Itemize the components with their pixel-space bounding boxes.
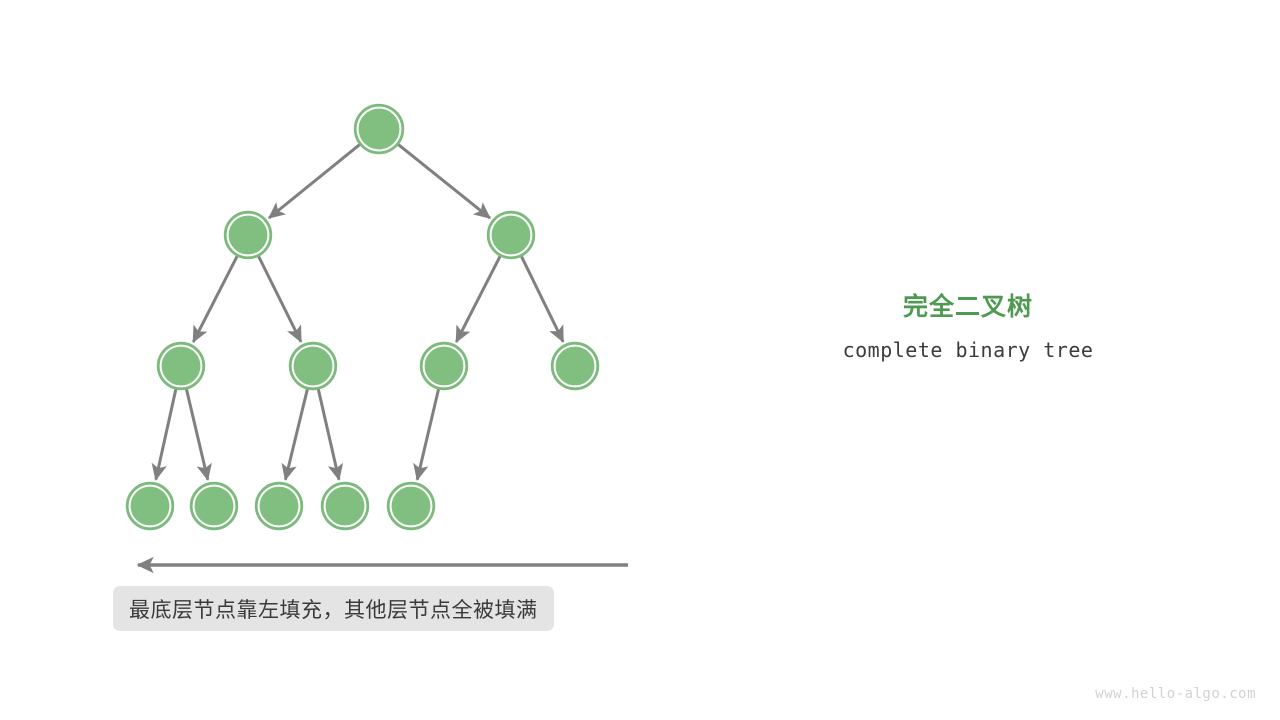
node-core: [425, 347, 463, 385]
legend-block: 完全二叉树 complete binary tree: [768, 292, 1168, 362]
tree-node[interactable]: [127, 483, 173, 529]
node-core: [294, 347, 332, 385]
legend-subtitle: complete binary tree: [768, 338, 1168, 362]
tree-node[interactable]: [158, 343, 204, 389]
tree-node[interactable]: [552, 343, 598, 389]
tree-edge: [187, 389, 208, 479]
tree-node[interactable]: [488, 212, 534, 258]
node-core: [492, 216, 530, 254]
tree-node[interactable]: [421, 343, 467, 389]
node-core: [131, 487, 169, 525]
node-core: [195, 487, 233, 525]
tree-node[interactable]: [256, 483, 302, 529]
tree-edge: [417, 389, 438, 479]
tree-edge: [318, 389, 339, 479]
tree-node[interactable]: [322, 483, 368, 529]
watermark: www.hello-algo.com: [1095, 686, 1256, 702]
tree-nodes: [127, 105, 598, 529]
node-core: [326, 487, 364, 525]
tree-node[interactable]: [355, 105, 403, 153]
tree-edge: [156, 389, 176, 479]
tree-edge: [269, 145, 360, 218]
tree-edge: [456, 256, 500, 342]
tree-node[interactable]: [290, 343, 336, 389]
node-core: [162, 347, 200, 385]
tree-edge: [285, 389, 307, 479]
node-core: [392, 487, 430, 525]
tree-node[interactable]: [191, 483, 237, 529]
tree-node[interactable]: [388, 483, 434, 529]
diagram-canvas: 完全二叉树 complete binary tree 最底层节点靠左填充，其他层…: [0, 0, 1280, 720]
tree-edge: [522, 257, 564, 342]
node-core: [359, 109, 399, 149]
caption-text: 最底层节点靠左填充，其他层节点全被填满: [129, 594, 538, 624]
legend-title: 完全二叉树: [768, 292, 1168, 322]
caption-box: 最底层节点靠左填充，其他层节点全被填满: [113, 586, 554, 631]
tree-edge: [193, 256, 237, 342]
node-core: [556, 347, 594, 385]
tree-edge: [259, 256, 301, 341]
tree-edge: [398, 145, 489, 218]
tree-edges: [156, 145, 563, 480]
node-core: [260, 487, 298, 525]
tree-node[interactable]: [225, 212, 271, 258]
node-core: [229, 216, 267, 254]
